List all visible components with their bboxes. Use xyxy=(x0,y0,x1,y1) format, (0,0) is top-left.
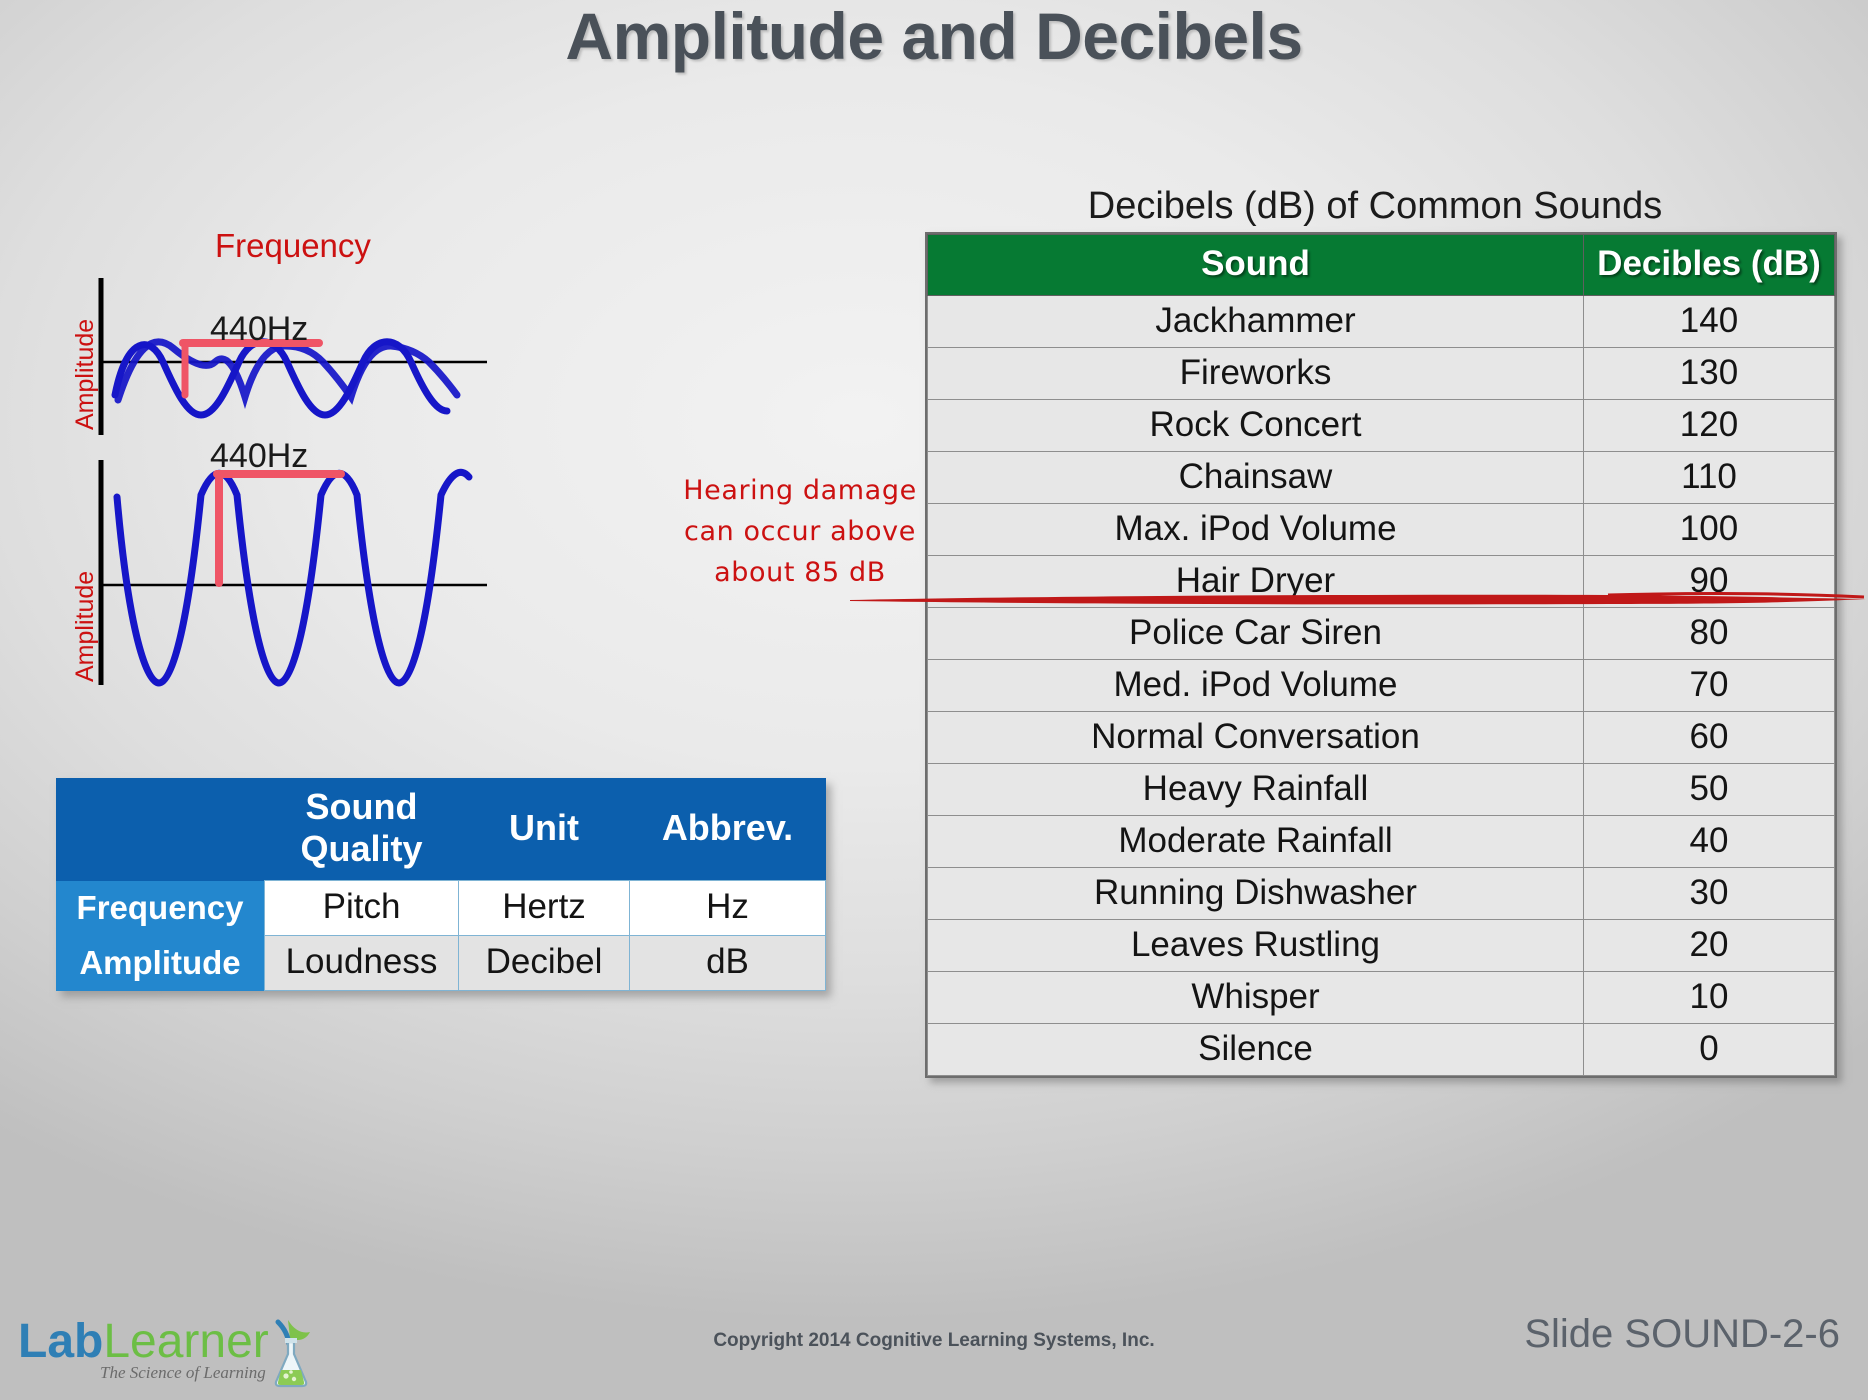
table-row: Normal Conversation60 xyxy=(928,712,1835,764)
table-row: Max. iPod Volume100 xyxy=(928,504,1835,556)
sq-cell-property: Amplitude xyxy=(56,936,265,991)
table-row: Med. iPod Volume70 xyxy=(928,660,1835,712)
table-row: Jackhammer140 xyxy=(928,296,1835,348)
sq-cell-abbrev: dB xyxy=(630,936,826,991)
table-row: Heavy Rainfall50 xyxy=(928,764,1835,816)
db-cell-value: 130 xyxy=(1584,348,1835,400)
db-cell-value: 90 xyxy=(1584,556,1835,608)
db-cell-value: 10 xyxy=(1584,972,1835,1024)
db-cell-sound: Fireworks xyxy=(928,348,1584,400)
table-row: Silence0 xyxy=(928,1024,1835,1076)
table-row: Hair Dryer90 xyxy=(928,556,1835,608)
lablearner-logo: LabLearner The Science of Learning xyxy=(18,1318,318,1388)
table-row: Police Car Siren80 xyxy=(928,608,1835,660)
db-table-body: Jackhammer140Fireworks130Rock Concert120… xyxy=(928,296,1835,1076)
table-row: Running Dishwasher30 xyxy=(928,868,1835,920)
db-cell-value: 120 xyxy=(1584,400,1835,452)
table-row: Chainsaw110 xyxy=(928,452,1835,504)
db-cell-sound: Whisper xyxy=(928,972,1584,1024)
table-row: AmplitudeLoudnessDecibeldB xyxy=(56,936,826,991)
amplitude-label-top: Amplitude xyxy=(71,319,100,430)
hearing-note-line-2: can occur above xyxy=(680,511,920,552)
db-cell-sound: Moderate Rainfall xyxy=(928,816,1584,868)
table-row: Leaves Rustling20 xyxy=(928,920,1835,972)
slide-number: Slide SOUND-2-6 xyxy=(1524,1312,1840,1357)
db-cell-value: 110 xyxy=(1584,452,1835,504)
waveform-svg xyxy=(55,215,575,715)
sound-quality-table: Sound Quality Unit Abbrev. FrequencyPitc… xyxy=(56,778,826,991)
db-table-header-row: Sound Decibles (dB) xyxy=(928,235,1835,296)
db-col-header-decibels: Decibles (dB) xyxy=(1584,235,1835,296)
db-cell-sound: Max. iPod Volume xyxy=(928,504,1584,556)
sq-cell-quality: Pitch xyxy=(265,881,459,936)
db-cell-value: 140 xyxy=(1584,296,1835,348)
db-cell-sound: Silence xyxy=(928,1024,1584,1076)
db-cell-sound: Heavy Rainfall xyxy=(928,764,1584,816)
sq-col-header-abbrev: Abbrev. xyxy=(630,778,826,881)
slide-canvas: Amplitude and Decibels Frequency Amplitu… xyxy=(0,0,1868,1400)
sq-cell-unit: Hertz xyxy=(459,881,630,936)
sq-table-body: FrequencyPitchHertzHzAmplitudeLoudnessDe… xyxy=(56,881,826,991)
hearing-damage-note: Hearing damage can occur above about 85 … xyxy=(680,470,920,593)
sq-cell-property: Frequency xyxy=(56,881,265,936)
sound-quality-table-container: Sound Quality Unit Abbrev. FrequencyPitc… xyxy=(56,778,826,991)
db-cell-value: 60 xyxy=(1584,712,1835,764)
db-cell-sound: Hair Dryer xyxy=(928,556,1584,608)
sq-cell-quality: Loudness xyxy=(265,936,459,991)
db-cell-value: 40 xyxy=(1584,816,1835,868)
decibel-table: Sound Decibles (dB) Jackhammer140Firewor… xyxy=(927,234,1835,1076)
bottom-wave-curve xyxy=(117,472,469,683)
table-row: Moderate Rainfall40 xyxy=(928,816,1835,868)
db-col-header-sound: Sound xyxy=(928,235,1584,296)
sq-cell-unit: Decibel xyxy=(459,936,630,991)
page-title: Amplitude and Decibels xyxy=(0,0,1868,74)
hearing-note-line-1: Hearing damage xyxy=(680,470,920,511)
top-wave-curve xyxy=(115,342,447,415)
db-cell-sound: Running Dishwasher xyxy=(928,868,1584,920)
db-cell-sound: Jackhammer xyxy=(928,296,1584,348)
db-table-title: Decibels (dB) of Common Sounds xyxy=(925,185,1825,228)
db-cell-sound: Leaves Rustling xyxy=(928,920,1584,972)
db-cell-value: 50 xyxy=(1584,764,1835,816)
waveform-diagram-panel: Frequency Amplitude Amplitude 440Hz 440H… xyxy=(55,215,575,715)
logo-tagline: The Science of Learning xyxy=(100,1363,266,1383)
db-cell-sound: Chainsaw xyxy=(928,452,1584,504)
sq-col-header-quality: Sound Quality xyxy=(265,778,459,881)
db-cell-value: 30 xyxy=(1584,868,1835,920)
hz-label-bottom: 440Hz xyxy=(210,437,308,476)
db-cell-value: 0 xyxy=(1584,1024,1835,1076)
db-cell-sound: Normal Conversation xyxy=(928,712,1584,764)
sq-cell-abbrev: Hz xyxy=(630,881,826,936)
db-cell-sound: Med. iPod Volume xyxy=(928,660,1584,712)
db-cell-value: 20 xyxy=(1584,920,1835,972)
amplitude-label-bottom: Amplitude xyxy=(71,571,100,682)
table-row: FrequencyPitchHertzHz xyxy=(56,881,826,936)
sq-col-header-blank xyxy=(56,778,265,881)
db-cell-value: 80 xyxy=(1584,608,1835,660)
sq-col-header-unit: Unit xyxy=(459,778,630,881)
table-row: Fireworks130 xyxy=(928,348,1835,400)
db-table-container: Sound Decibles (dB) Jackhammer140Firewor… xyxy=(925,232,1837,1078)
db-cell-sound: Rock Concert xyxy=(928,400,1584,452)
table-row: Rock Concert120 xyxy=(928,400,1835,452)
hz-label-top: 440Hz xyxy=(210,310,308,349)
db-cell-sound: Police Car Siren xyxy=(928,608,1584,660)
table-row: Whisper10 xyxy=(928,972,1835,1024)
db-cell-value: 70 xyxy=(1584,660,1835,712)
hearing-note-line-3: about 85 dB xyxy=(680,552,920,593)
sq-header-row: Sound Quality Unit Abbrev. xyxy=(56,778,826,881)
flask-icon xyxy=(264,1316,322,1388)
db-cell-value: 100 xyxy=(1584,504,1835,556)
